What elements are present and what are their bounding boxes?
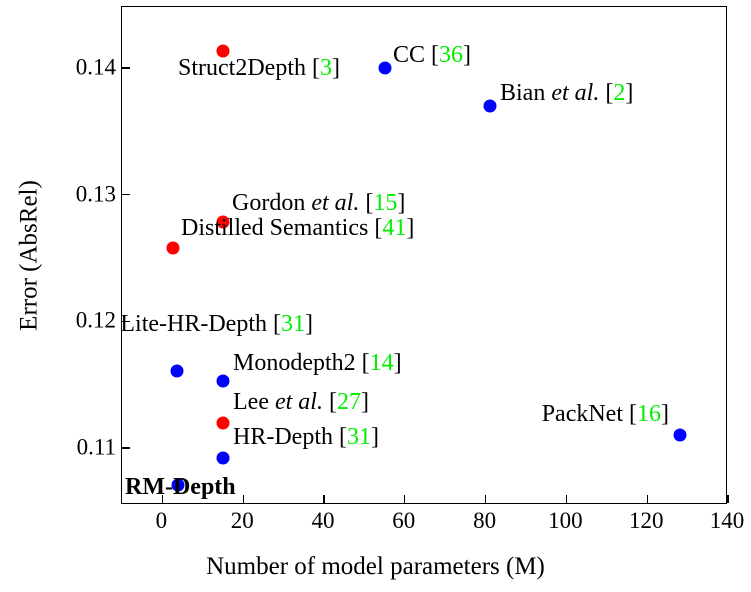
y-tick-mark xyxy=(122,67,130,68)
citation-bracket-open: [ xyxy=(339,424,347,450)
x-tick-mark xyxy=(566,495,567,503)
annotation-name: CC xyxy=(393,42,425,68)
annotation-etal: et al. xyxy=(311,190,359,216)
annotation-bian-et-al: Bian et al. [2] xyxy=(500,81,633,105)
annotation-hr-depth: HR-Depth [31] xyxy=(233,425,379,449)
x-tick-label: 40 xyxy=(312,509,335,532)
citation-bracket-open: [ xyxy=(312,55,320,81)
citation-bracket-close: ] xyxy=(371,424,379,450)
x-tick-label: 100 xyxy=(548,509,583,532)
x-tick-mark xyxy=(323,495,324,503)
citation-number: 3 xyxy=(320,55,332,81)
citation-bracket-open: [ xyxy=(329,389,337,415)
annotation-name: Distilled Semantics xyxy=(181,215,368,241)
data-point-cc[interactable] xyxy=(378,61,391,74)
citation-number: 31 xyxy=(281,311,305,337)
citation-bracket-open: [ xyxy=(431,42,439,68)
data-point-lee-et-al[interactable] xyxy=(217,416,230,429)
citation-number: 16 xyxy=(637,401,661,427)
citation-bracket-close: ] xyxy=(463,42,471,68)
citation-bracket-open: [ xyxy=(273,311,281,337)
citation-bracket-close: ] xyxy=(625,80,633,106)
annotation-name: Gordon xyxy=(232,190,305,216)
x-tick-mark xyxy=(243,495,244,503)
annotation-lite-hr-depth: Lite-HR-Depth [31] xyxy=(120,312,313,336)
citation-number: 2 xyxy=(613,80,625,106)
y-tick-mark xyxy=(122,447,130,448)
annotation-lee-et-al: Lee et al. [27] xyxy=(233,390,369,414)
annotation-name: Lite-HR-Depth xyxy=(120,311,267,337)
annotation-rm-depth: RM-Depth xyxy=(125,475,236,499)
annotation-gordon-et-al: Gordon et al. [15] xyxy=(232,191,405,215)
annotation-etal: et al. xyxy=(275,389,323,415)
annotation-cc: CC [36] xyxy=(393,43,471,67)
x-tick-label: 0 xyxy=(156,509,168,532)
citation-number: 36 xyxy=(439,42,463,68)
citation-bracket-close: ] xyxy=(305,311,313,337)
x-tick-label: 20 xyxy=(231,509,254,532)
x-tick-label: 140 xyxy=(710,509,745,532)
annotation-name: Struct2Depth xyxy=(178,55,306,81)
data-point-monodepth2[interactable] xyxy=(217,374,230,387)
data-point-packnet[interactable] xyxy=(673,429,686,442)
annotation-packnet: PackNet [16] xyxy=(542,402,669,426)
annotation-etal: et al. xyxy=(551,80,599,106)
annotation-name: Bian xyxy=(500,80,545,106)
citation-bracket-close: ] xyxy=(661,401,669,427)
x-tick-label: 120 xyxy=(629,509,664,532)
data-point-distilled-semantics[interactable] xyxy=(166,241,179,254)
y-axis-title: Error (AbsRel) xyxy=(17,126,42,386)
citation-number: 27 xyxy=(337,389,361,415)
data-point-lite-hr-depth[interactable] xyxy=(170,364,183,377)
x-tick-label: 60 xyxy=(392,509,415,532)
x-tick-mark xyxy=(485,495,486,503)
annotation-monodepth2: Monodepth2 [14] xyxy=(233,351,402,375)
x-tick-mark xyxy=(727,495,728,503)
citation-number: 31 xyxy=(347,424,371,450)
y-tick-label: 0.14 xyxy=(0,55,116,78)
y-tick-label: 0.11 xyxy=(0,435,116,458)
citation-number: 41 xyxy=(382,215,406,241)
citation-bracket-close: ] xyxy=(332,55,340,81)
annotation-distilled-semantics: Distilled Semantics [41] xyxy=(181,216,414,240)
citation-bracket-close: ] xyxy=(397,190,405,216)
annotation-struct2depth: Struct2Depth [3] xyxy=(178,56,340,80)
scatter-plot-figure: 0.140.130.120.11 020406080100120140 Stru… xyxy=(0,0,751,592)
x-tick-mark xyxy=(404,495,405,503)
citation-number: 14 xyxy=(370,350,394,376)
citation-bracket-close: ] xyxy=(361,389,369,415)
annotation-name: Lee xyxy=(233,389,269,415)
citation-bracket-close: ] xyxy=(406,215,414,241)
citation-bracket-open: [ xyxy=(362,350,370,376)
citation-bracket-close: ] xyxy=(394,350,402,376)
data-point-bian-et-al[interactable] xyxy=(483,99,496,112)
x-tick-label: 80 xyxy=(473,509,496,532)
x-axis-title: Number of model parameters (M) xyxy=(0,554,751,579)
x-tick-mark xyxy=(647,495,648,503)
annotation-name: Monodepth2 xyxy=(233,350,356,376)
citation-number: 15 xyxy=(373,190,397,216)
annotation-name: RM-Depth xyxy=(125,474,236,500)
annotation-name: HR-Depth xyxy=(233,424,333,450)
y-tick-mark xyxy=(122,194,130,195)
annotation-name: PackNet xyxy=(542,401,623,427)
data-point-hr-depth[interactable] xyxy=(217,452,230,465)
